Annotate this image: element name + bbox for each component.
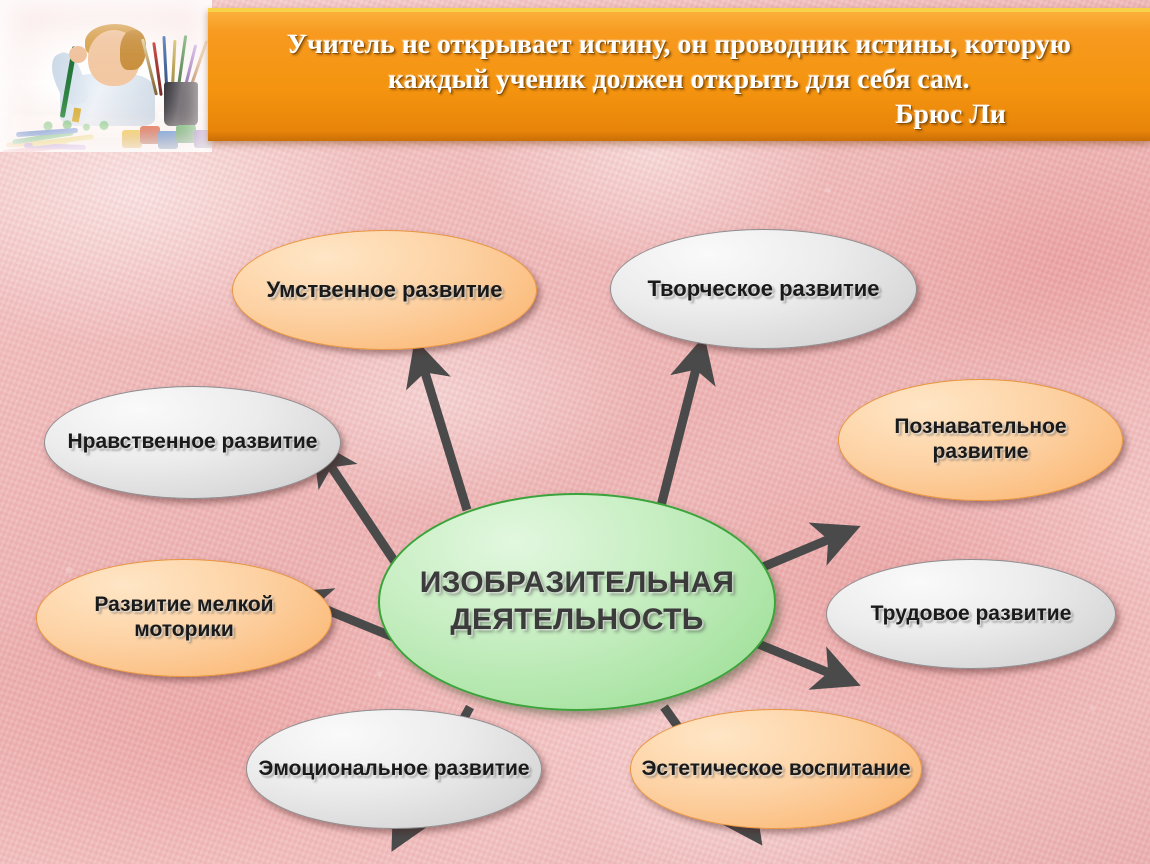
- node-nravstvennoe[interactable]: Нравственное развитие: [44, 386, 341, 499]
- node-trudovoe-label: Трудовое развитие: [861, 602, 1082, 627]
- quote-line-2: каждый ученик должен открыть для себя са…: [232, 61, 1126, 96]
- node-melkaya-label: Развитие мелкой моторики: [37, 593, 331, 643]
- node-emocionalnoe-label: Эмоциональное развитие: [248, 757, 539, 782]
- arrow-to-nravstvennoe: [322, 453, 403, 574]
- child-painting-photo: [0, 0, 212, 152]
- center-node-label: ИЗОБРАЗИТЕЛЬНАЯ ДЕЯТЕЛЬНОСТЬ: [410, 565, 745, 638]
- quote-line-1: Учитель не открывает истину, он проводни…: [232, 26, 1126, 61]
- node-esteticheskoe-label: Эстетическое воспитание: [631, 757, 920, 782]
- node-umstvennoe[interactable]: Умственное развитие: [232, 230, 537, 350]
- node-poznavatelnoe-label: Познавательное развитие: [839, 415, 1122, 465]
- node-poznavatelnoe[interactable]: Познавательное развитие: [838, 379, 1123, 501]
- node-tvorcheskoe[interactable]: Творческое развитие: [610, 229, 917, 349]
- node-emocionalnoe[interactable]: Эмоциональное развитие: [246, 709, 542, 829]
- arrow-to-umstvennoe: [420, 356, 467, 510]
- arrow-to-tvorcheskoe: [661, 353, 700, 506]
- center-line-2: ДЕЯТЕЛЬНОСТЬ: [450, 603, 703, 636]
- quote-author: Брюс Ли: [232, 96, 1126, 131]
- node-esteticheskoe[interactable]: Эстетическое воспитание: [630, 709, 922, 829]
- node-umstvennoe-label: Умственное развитие: [257, 277, 513, 303]
- mind-map-diagram: ИЗОБРАЗИТЕЛЬНАЯ ДЕЯТЕЛЬНОСТЬ Умственное …: [0, 141, 1150, 864]
- photo-vignette: [0, 0, 212, 152]
- node-trudovoe[interactable]: Трудовое развитие: [826, 559, 1116, 669]
- center-line-1: ИЗОБРАЗИТЕЛЬНАЯ: [420, 566, 735, 599]
- arrow-to-trudovoe: [751, 641, 844, 679]
- node-melkaya[interactable]: Развитие мелкой моторики: [36, 559, 332, 677]
- quote-banner: Учитель не открывает истину, он проводни…: [208, 8, 1150, 141]
- node-tvorcheskoe-label: Творческое развитие: [637, 276, 889, 302]
- node-nravstvennoe-label: Нравственное развитие: [58, 430, 328, 455]
- slide-canvas: Учитель не открывает истину, он проводни…: [0, 0, 1150, 864]
- center-node[interactable]: ИЗОБРАЗИТЕЛЬНАЯ ДЕЯТЕЛЬНОСТЬ: [378, 493, 776, 711]
